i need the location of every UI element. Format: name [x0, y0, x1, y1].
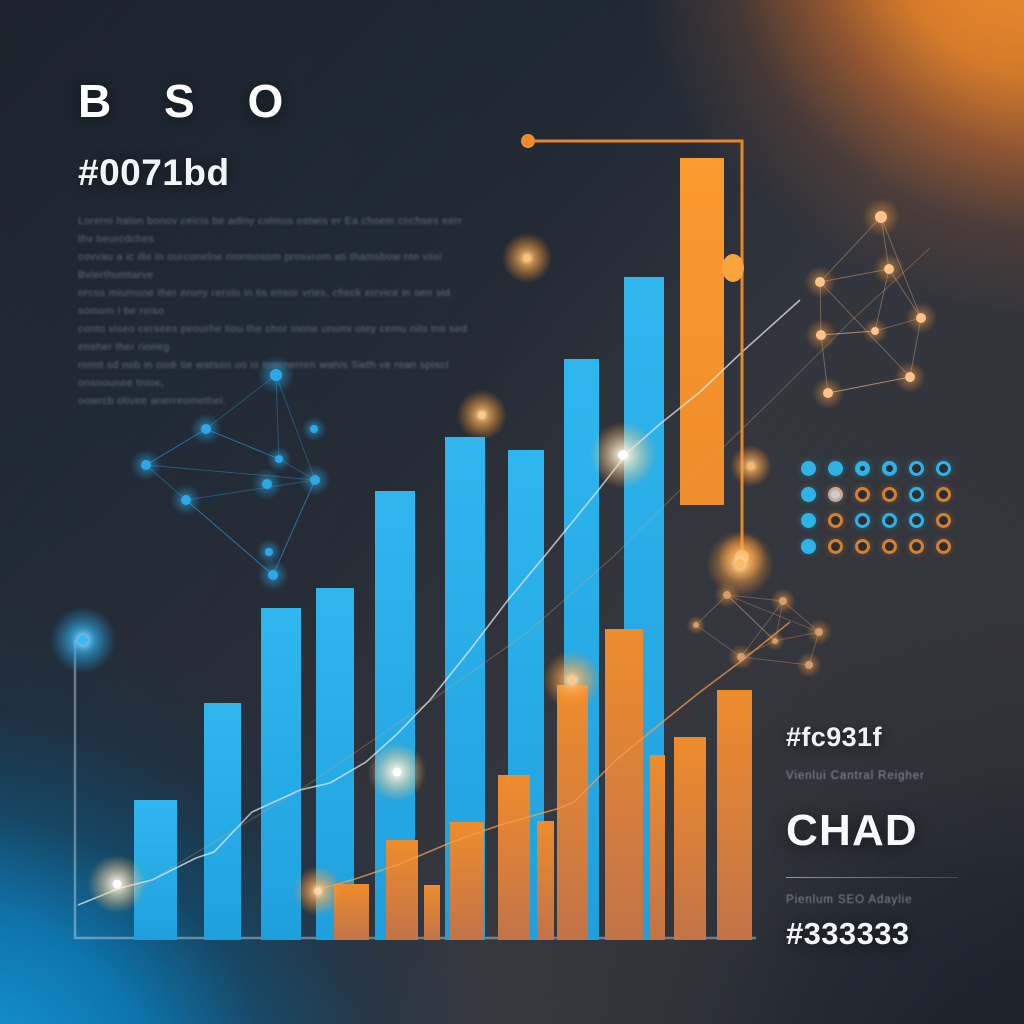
matrix-dot [855, 461, 870, 476]
description-line: covvau a ic ille in ourconelne mormosom … [78, 248, 468, 284]
matrix-dot [801, 513, 816, 528]
matrix-dot [909, 513, 924, 528]
matrix-dot [909, 487, 924, 502]
brand-title: B S O [78, 78, 468, 124]
description-line: orcos miumone ther erony rerolo in tis e… [78, 284, 468, 320]
description-line: Lorerni halon bonov ceicis be adiny colm… [78, 212, 468, 248]
tagline-label: Pienlum SEO Adaylie [786, 894, 992, 906]
matrix-dot [882, 487, 897, 502]
matrix-dot [828, 461, 843, 476]
matrix-dot [855, 513, 870, 528]
matrix-dot [909, 539, 924, 554]
matrix-dot [828, 513, 843, 528]
matrix-dot [936, 539, 951, 554]
matrix-dot [828, 487, 843, 502]
matrix-dot [855, 539, 870, 554]
matrix-dot [936, 513, 951, 528]
matrix-dot [801, 539, 816, 554]
matrix-dot [936, 487, 951, 502]
brand-board-canvas: B S O #0071bd Lorerni halon bonov ceicis… [0, 0, 1024, 1024]
description-line: oowrcb otivee anerreomethei. [78, 392, 468, 410]
matrix-dot [882, 539, 897, 554]
brand-primary-hex: #0071bd [78, 152, 468, 194]
neutral-hex: #333333 [786, 916, 992, 952]
accent-hex: #fc931f [786, 722, 992, 753]
accent-info-block: #fc931f Vienlui Cantral Reigher CHAD Pie… [786, 722, 992, 952]
description-line: romtt sd oob in oodi tie watson oo io to… [78, 356, 468, 392]
matrix-dot [828, 539, 843, 554]
matrix-dot [882, 461, 897, 476]
brand-info-block: B S O #0071bd Lorerni halon bonov ceicis… [78, 78, 468, 411]
accent-sub-label: Vienlui Cantral Reigher [786, 770, 992, 782]
description-line: conto viseo cersees peourhe tiou the cho… [78, 320, 468, 356]
divider-rule [786, 877, 958, 878]
product-name: CHAD [786, 809, 992, 853]
brand-description-text: Lorerni halon bonov ceicis be adiny colm… [78, 212, 468, 411]
matrix-dot [855, 487, 870, 502]
matrix-dot [801, 461, 816, 476]
matrix-dot [801, 487, 816, 502]
dot-matrix-grid [795, 455, 957, 559]
matrix-dot [909, 461, 924, 476]
matrix-dot [882, 513, 897, 528]
matrix-dot [936, 461, 951, 476]
